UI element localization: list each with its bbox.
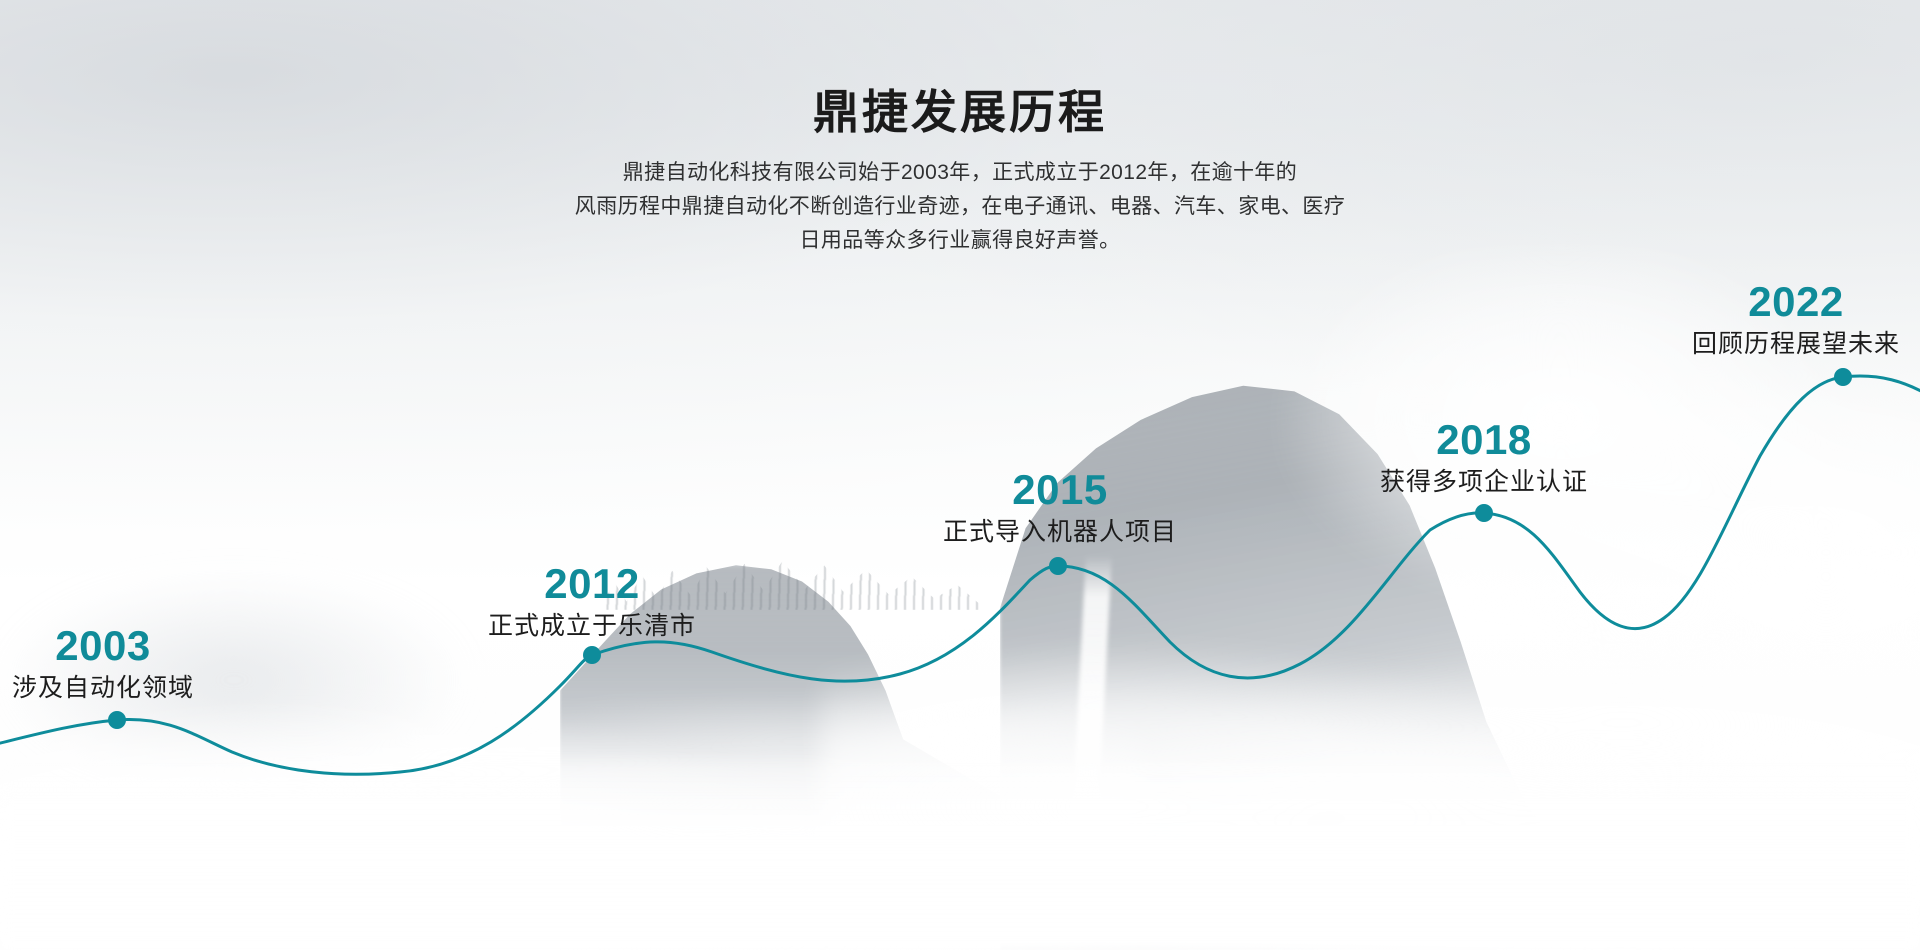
timeline-node-2012[interactable] <box>583 646 601 664</box>
milestone-2012[interactable]: 2012 正式成立于乐清市 <box>488 562 696 642</box>
timeline-node-2015[interactable] <box>1049 557 1067 575</box>
milestone-year-label: 2015 <box>943 468 1177 512</box>
milestone-desc-label: 正式成立于乐清市 <box>488 611 696 642</box>
milestone-year-label: 2012 <box>488 562 696 606</box>
milestone-2018[interactable]: 2018 获得多项企业认证 <box>1380 418 1588 498</box>
milestone-desc-label: 正式导入机器人项目 <box>943 517 1177 548</box>
milestone-2022[interactable]: 2022 回顾历程展望未来 <box>1692 280 1900 360</box>
milestone-year-label: 2022 <box>1692 280 1900 324</box>
timeline-node-group <box>108 368 1852 729</box>
timeline: 2003 涉及自动化领域 2012 正式成立于乐清市 2015 正式导入机器人项… <box>0 0 1920 950</box>
timeline-node-2003[interactable] <box>108 711 126 729</box>
milestone-desc-label: 回顾历程展望未来 <box>1692 329 1900 360</box>
timeline-node-2018[interactable] <box>1475 504 1493 522</box>
milestone-year-label: 2018 <box>1380 418 1588 462</box>
timeline-infographic: 鼎捷发展历程 鼎捷自动化科技有限公司始于2003年，正式成立于2012年，在逾十… <box>0 0 1920 950</box>
milestone-2015[interactable]: 2015 正式导入机器人项目 <box>943 468 1177 548</box>
milestone-desc-label: 获得多项企业认证 <box>1380 467 1588 498</box>
milestone-desc-label: 涉及自动化领域 <box>12 673 194 704</box>
milestone-year-label: 2003 <box>12 624 194 668</box>
timeline-node-2022[interactable] <box>1834 368 1852 386</box>
milestone-2003[interactable]: 2003 涉及自动化领域 <box>12 624 194 704</box>
timeline-curve-path <box>0 376 1920 774</box>
